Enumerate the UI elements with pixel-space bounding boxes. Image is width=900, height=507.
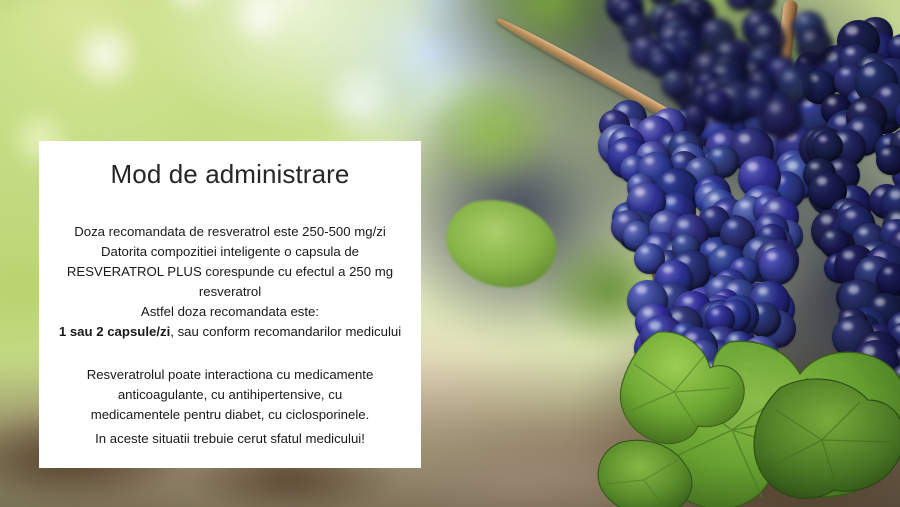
grape-berry [876,263,900,297]
dosage-line: Datorita compozitiei inteligente o capsu… [53,242,407,262]
vine-leaf-mid [438,196,568,291]
grape-berry [761,98,802,139]
presentation-slide: Mod de administrare Doza recomandata de … [0,0,900,507]
dosage-line: RESVERATROL PLUS corespunde cu efectul a… [53,262,407,282]
dosage-line: Astfel doza recomandata este: [53,302,407,322]
warning-line: In aceste situatii trebuie cerut sfatul … [53,425,407,449]
card-body: Doza recomandata de resveratrol este 250… [39,190,421,449]
page-title: Mod de administrare [39,141,421,190]
vine-leaf-bottom-small [592,436,702,507]
dosage-emphasis: 1 sau 2 capsule/zi [59,324,170,339]
vine-leaf-upper-left [600,330,750,450]
dosage-final-rest: , sau conform recomandarilor medicului [170,324,401,339]
grape-berry [759,247,797,285]
content-card: Mod de administrare Doza recomandata de … [39,141,421,468]
grape-berry [876,145,900,175]
grape-berry [661,69,691,99]
warning-line: medicamentele pentru diabet, cu ciclospo… [53,405,407,425]
dosage-line: Doza recomandata de resveratrol este 250… [53,222,407,242]
warning-line: Resveratrolul poate interactiona cu medi… [53,365,407,385]
warning-paragraph: Resveratrolul poate interactiona cu medi… [53,342,407,449]
dosage-final-line: 1 sau 2 capsule/zi, sau conform recomand… [53,322,407,342]
dosage-line: resveratrol [53,282,407,302]
warning-line: anticoagulante, cu antihipertensive, cu [53,385,407,405]
vine-leaf-right [740,370,900,507]
grape-berry [796,27,834,65]
dosage-paragraph: Doza recomandata de resveratrol este 250… [53,190,407,342]
